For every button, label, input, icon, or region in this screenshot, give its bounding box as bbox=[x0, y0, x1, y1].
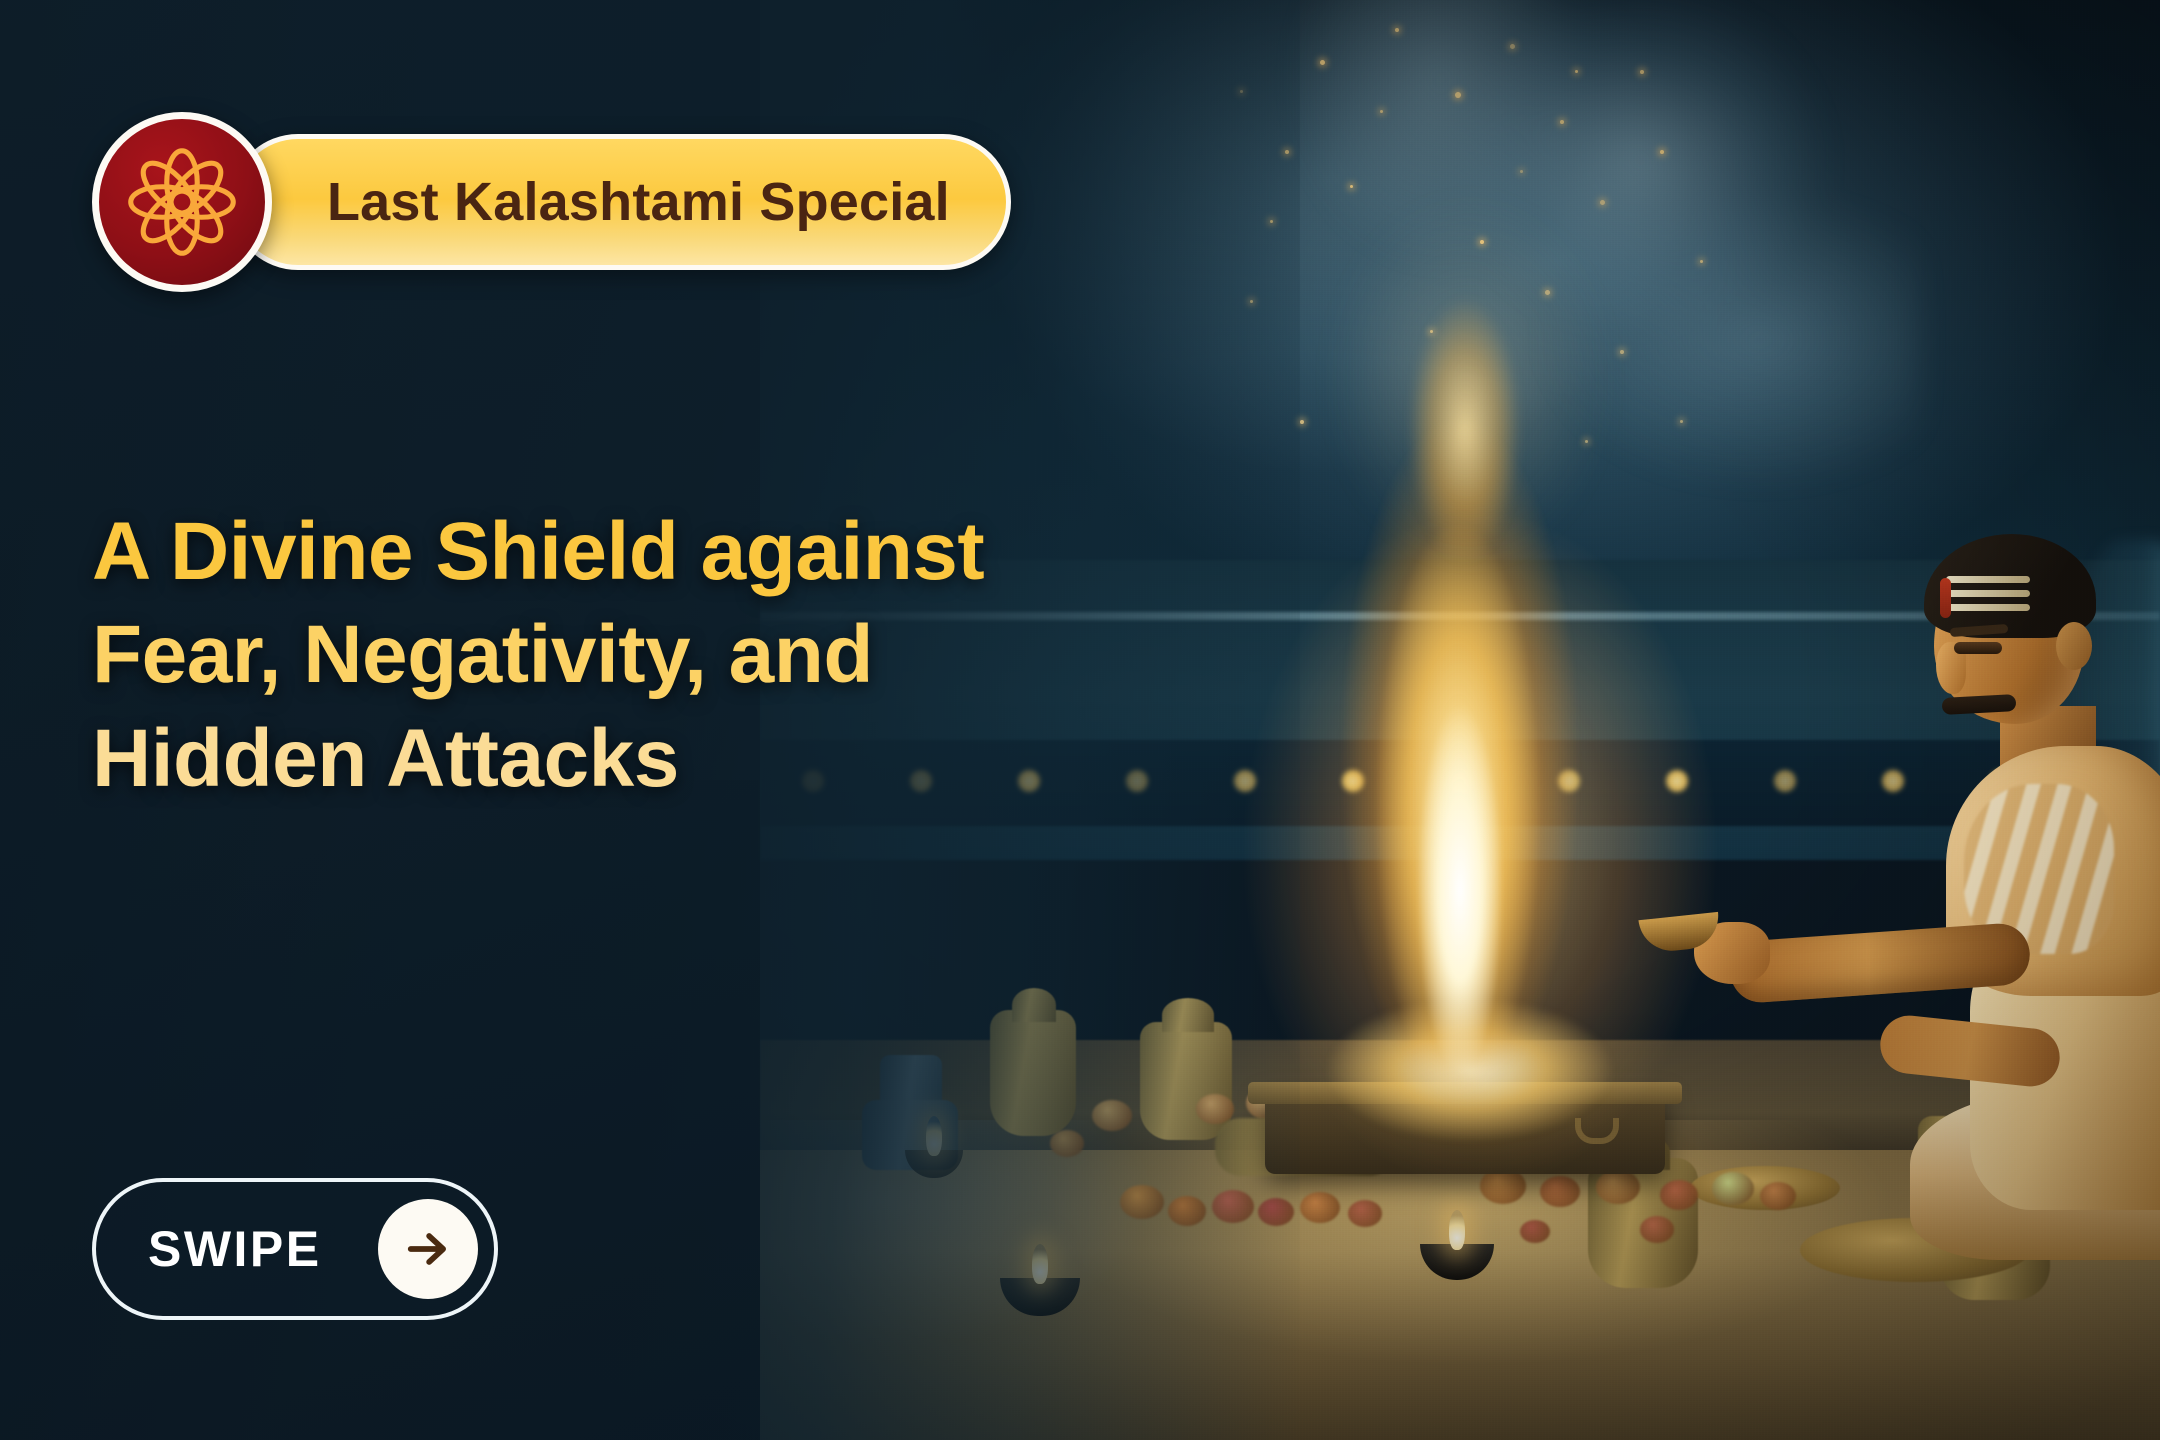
headline-line-1: A Divine Shield against bbox=[92, 500, 1222, 603]
headline-line-3: Hidden Attacks bbox=[92, 707, 1222, 810]
creative-slide: Last Kalashtami Special A Divine Shield … bbox=[0, 0, 2160, 1440]
brand-logo[interactable] bbox=[92, 112, 272, 292]
arrow-right-icon bbox=[402, 1223, 454, 1275]
lotus-rosette-icon bbox=[121, 141, 243, 263]
swipe-button[interactable]: SWIPE bbox=[92, 1178, 498, 1320]
swipe-label: SWIPE bbox=[148, 1224, 322, 1274]
page-title: A Divine Shield against Fear, Negativity… bbox=[92, 500, 1222, 810]
badge-label: Last Kalashtami Special bbox=[327, 175, 950, 229]
badge-pill[interactable]: Last Kalashtami Special bbox=[230, 134, 1011, 270]
swipe-arrow-circle[interactable] bbox=[378, 1199, 478, 1299]
headline-line-2: Fear, Negativity, and bbox=[92, 603, 1222, 706]
campaign-badge[interactable]: Last Kalashtami Special bbox=[92, 112, 1011, 292]
